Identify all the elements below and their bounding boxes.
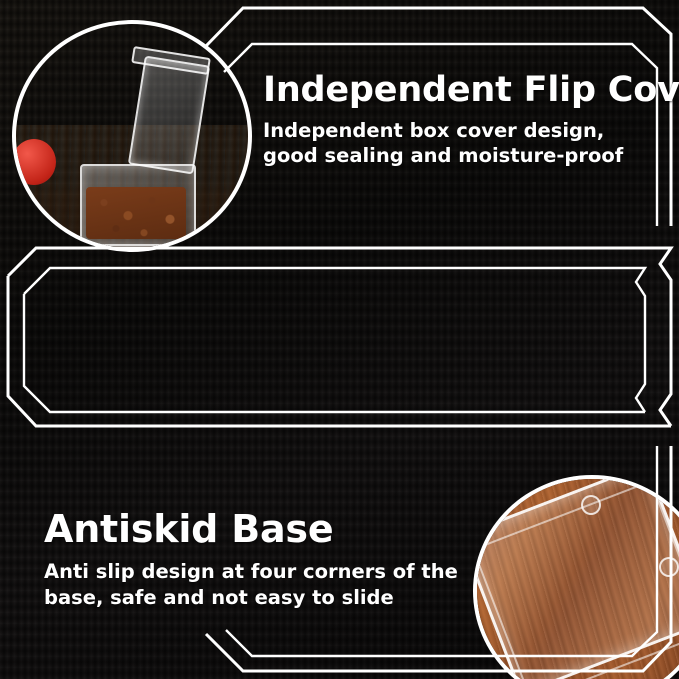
feature-panel-acrylic-material: Acrylic Material Transparent and visible…	[0, 440, 679, 679]
feature-description: Independent box cover design, good seali…	[263, 118, 663, 169]
feature-text-flip-cover: Independent Flip Cover Independent box c…	[263, 72, 663, 169]
brown-spice-grains	[86, 187, 186, 239]
panel-frame-outer-3	[0, 440, 679, 679]
feature-headline: Independent Flip Cover	[263, 72, 663, 109]
panel-frame-outer-2	[0, 234, 679, 440]
feature-panel-antiskid-base: Antiskid Base Anti slip design at four c…	[0, 234, 679, 440]
feature-panel-flip-cover: Independent Flip Cover Independent box c…	[0, 0, 679, 234]
product-feature-infographic: Independent Flip Cover Independent box c…	[0, 0, 679, 679]
feature-image-flip-cover	[16, 24, 248, 248]
